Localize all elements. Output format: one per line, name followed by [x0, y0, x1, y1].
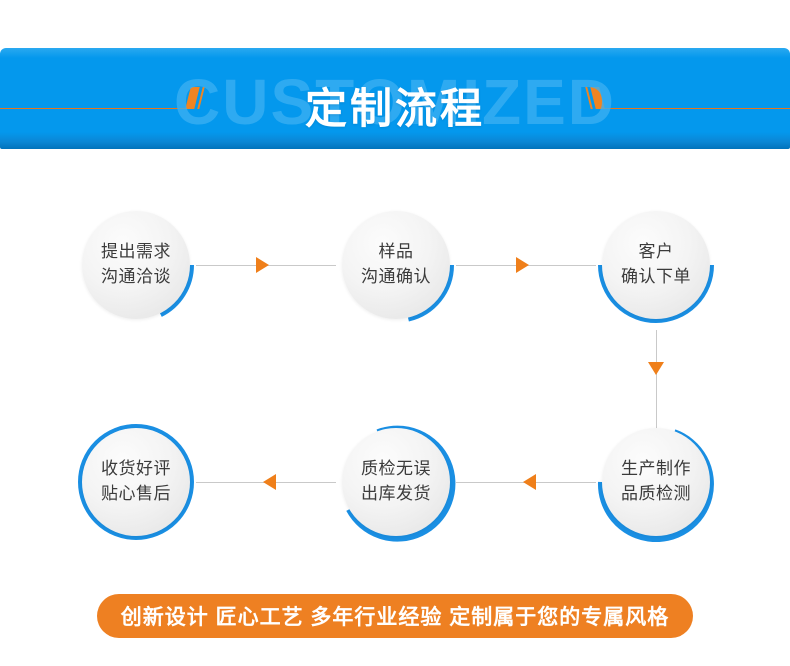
arrow-step3-step4-icon	[648, 362, 664, 375]
step-5-label: 质检无误 出库发货	[336, 422, 456, 542]
step-6-line1: 收货好评	[101, 457, 171, 482]
arrow-step1-step2-icon	[256, 257, 269, 273]
flow-step-3[interactable]: 客户 确认下单	[596, 205, 716, 325]
step-5-line2: 出库发货	[361, 482, 431, 507]
flow-step-5[interactable]: 质检无误 出库发货	[336, 422, 456, 542]
footer-slogan-text: 创新设计 匠心工艺 多年行业经验 定制属于您的专属风格	[121, 601, 670, 631]
step-4-line2: 品质检测	[621, 482, 691, 507]
connector-step3-step4	[656, 330, 657, 430]
step-2-line1: 样品	[379, 240, 414, 265]
step-1-label: 提出需求 沟通洽谈	[76, 205, 196, 325]
flow-step-2[interactable]: 样品 沟通确认	[336, 205, 456, 325]
step-3-label: 客户 确认下单	[596, 205, 716, 325]
step-2-label: 样品 沟通确认	[336, 205, 456, 325]
flow-step-1[interactable]: 提出需求 沟通洽谈	[76, 205, 196, 325]
step-2-line2: 沟通确认	[361, 265, 431, 290]
arrow-step5-step6-icon	[263, 474, 276, 490]
process-flow-diagram: 提出需求 沟通洽谈 样品 沟通确认 客户 确认下单	[0, 0, 790, 666]
step-3-line1: 客户	[639, 240, 674, 265]
step-6-line2: 贴心售后	[101, 482, 171, 507]
arrow-step4-step5-icon	[523, 474, 536, 490]
customized-process-page: CUSTOMIZED 定制流程 提出需求 沟通洽谈	[0, 0, 790, 666]
step-4-label: 生产制作 品质检测	[596, 422, 716, 542]
step-5-line1: 质检无误	[361, 457, 431, 482]
flow-step-6[interactable]: 收货好评 贴心售后	[76, 422, 196, 542]
step-1-line1: 提出需求	[101, 240, 171, 265]
step-6-label: 收货好评 贴心售后	[76, 422, 196, 542]
flow-step-4[interactable]: 生产制作 品质检测	[596, 422, 716, 542]
step-3-line2: 确认下单	[621, 265, 691, 290]
step-4-line1: 生产制作	[621, 457, 691, 482]
arrow-step2-step3-icon	[516, 257, 529, 273]
footer-slogan-banner: 创新设计 匠心工艺 多年行业经验 定制属于您的专属风格	[97, 594, 693, 638]
step-1-line2: 沟通洽谈	[101, 265, 171, 290]
